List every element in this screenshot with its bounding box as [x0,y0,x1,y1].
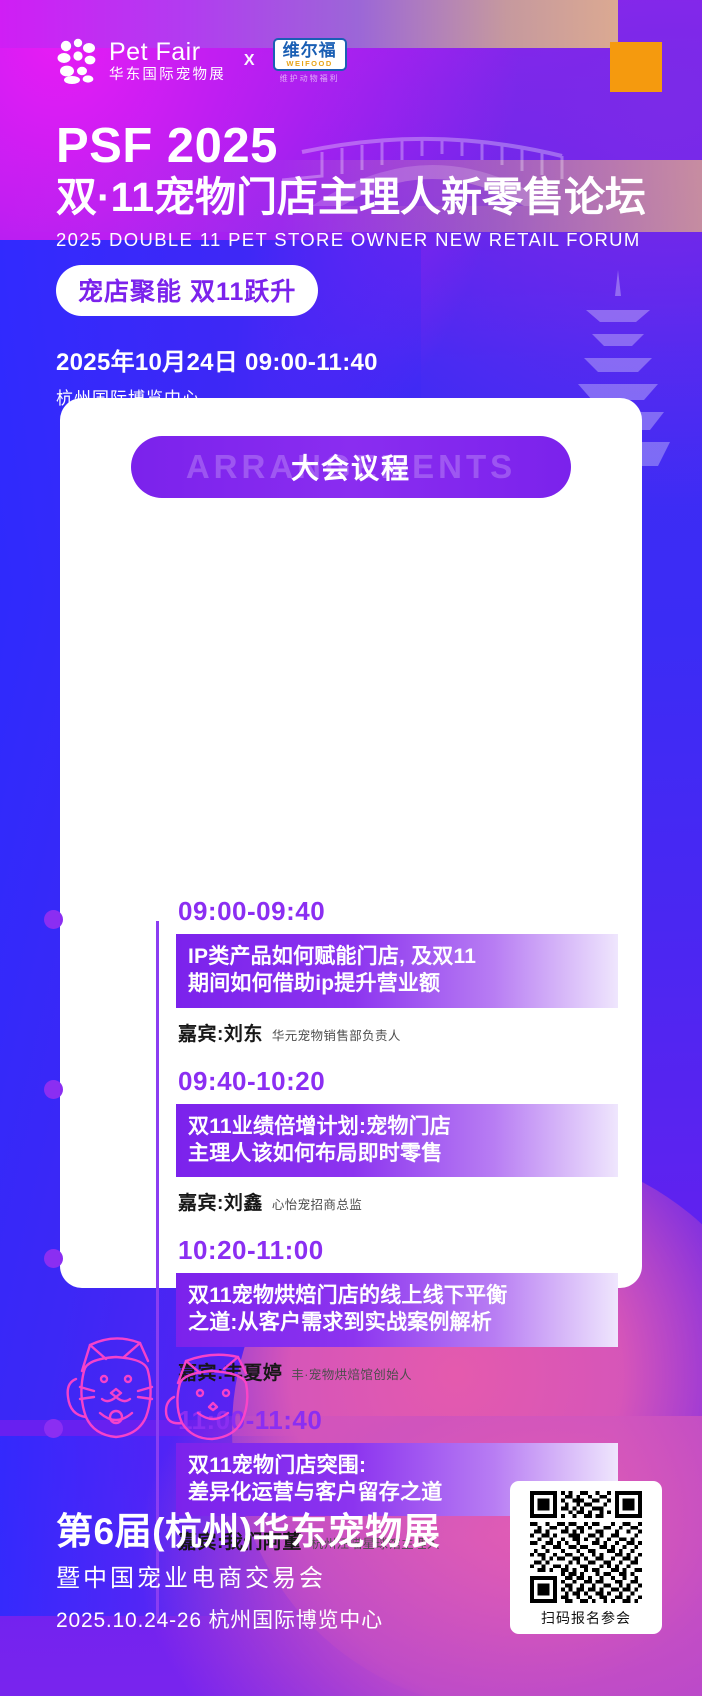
agenda-card: ARRANGEMENTS 大会议程 09:00-09:40 IP类产品如何赋能门… [60,398,642,1288]
agenda-session[interactable]: 09:40-10:20 双11业绩倍增计划:宠物门店 主理人该如何布局即时零售 … [60,1068,642,1216]
session-guest-name: 嘉宾:刘鑫 [178,1188,263,1215]
event-date: 2025年10月24日 09:00-11:40 [56,342,656,377]
session-title: 双11业绩倍增计划:宠物门店 主理人该如何布局即时零售 [176,1104,618,1178]
agenda-heading-label: 大会议程 [291,447,411,487]
poster-canvas: Pet Fair 华东国际宠物展 X 维尔福 WEIFOOD 维护动物福利 PS… [0,0,702,1696]
timeline-dot-icon [44,1080,63,1099]
title-chinese: 双·11宠物门店主理人新零售论坛 [56,175,656,221]
qr-caption: 扫码报名参会 [541,1608,631,1628]
session-guest-org: 丰·宠物烘焙馆创始人 [291,1364,412,1383]
session-guest-org: 华元宠物销售部负责人 [272,1025,401,1044]
title-code: PSF 2025 [56,122,656,171]
footer-block: 第6届(杭州)华东宠物展 暨中国宠业电商交易会 2025.10.24-26 杭州… [56,1511,486,1634]
session-title-line: 主理人该如何布局即时零售 [188,1140,618,1167]
cat-illustration [60,1331,290,1451]
headline-block: PSF 2025 双·11宠物门店主理人新零售论坛 2025 DOUBLE 11… [56,122,656,409]
logo-cross-sign: X [242,52,257,70]
session-title-line: 期间如何借助ip提升营业额 [188,970,618,997]
weifood-badge: 维尔福 WEIFOOD [273,38,347,71]
logo-row: Pet Fair 华东国际宠物展 X 维尔福 WEIFOOD 维护动物福利 [56,38,347,84]
session-guest-org: 心怡宠招商总监 [272,1194,362,1213]
footer-subtitle: 暨中国宠业电商交易会 [56,1558,486,1593]
session-title-line: 双11业绩倍增计划:宠物门店 [188,1113,618,1140]
weifood-tagline: 维护动物福利 [280,73,340,84]
orange-accent-block [610,42,662,92]
session-guest-row: 嘉宾:刘东 华元宠物销售部负责人 [178,1019,642,1046]
pet-fair-cn-label: 华东国际宠物展 [109,68,226,83]
session-time: 09:00-09:40 [178,898,642,924]
session-title-line: 双11宠物烘焙门店的线上线下平衡 [188,1282,618,1309]
pet-paw-cluster-icon [56,38,100,84]
pet-fair-en-label: Pet Fair [109,40,226,65]
footer-title: 第6届(杭州)华东宠物展 [56,1511,486,1552]
qr-code-icon[interactable] [530,1491,642,1603]
session-title: IP类产品如何赋能门店, 及双11 期间如何借助ip提升营业额 [176,934,618,1008]
pet-fair-logo: Pet Fair 华东国际宠物展 [56,38,226,84]
session-title-line: IP类产品如何赋能门店, 及双11 [188,943,618,970]
weifood-cn-label: 维尔福 [283,42,337,59]
weifood-logo: 维尔福 WEIFOOD 维护动物福利 [273,38,347,84]
footer-date-venue: 2025.10.24-26 杭州国际博览中心 [56,1604,486,1634]
slogan-text: 宠店聚能 双11跃升 [78,278,296,306]
slogan-pill: 宠店聚能 双11跃升 [56,265,318,316]
title-english: 2025 DOUBLE 11 PET STORE OWNER NEW RETAI… [56,229,656,251]
timeline-dot-icon [44,910,63,929]
session-time: 10:20-11:00 [178,1237,642,1263]
timeline-dot-icon [44,1249,63,1268]
session-title-line: 双11宠物门店突围: [188,1452,618,1479]
agenda-session[interactable]: 09:00-09:40 IP类产品如何赋能门店, 及双11 期间如何借助ip提升… [60,898,642,1046]
session-time: 09:40-10:20 [178,1068,642,1094]
session-guest-name: 嘉宾:刘东 [178,1019,263,1046]
qr-registration-box[interactable]: 扫码报名参会 [510,1481,662,1634]
agenda-heading-pill: ARRANGEMENTS 大会议程 [131,436,571,498]
weifood-en-label: WEIFOOD [286,60,332,68]
agenda-session-list: 09:00-09:40 IP类产品如何赋能门店, 及双11 期间如何借助ip提升… [60,898,642,1576]
session-guest-row: 嘉宾:刘鑫 心怡宠招商总监 [178,1188,642,1215]
